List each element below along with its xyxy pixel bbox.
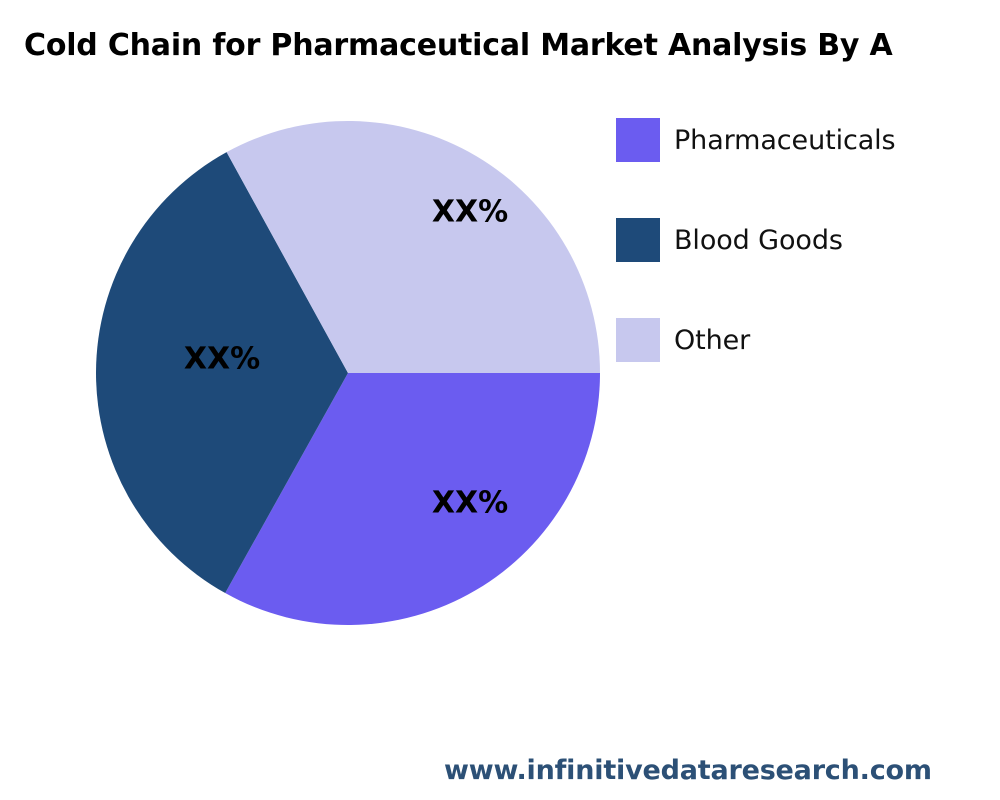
pie-slice-label-pharmaceuticals: XX% [432,486,508,521]
legend-swatch-pharmaceuticals [616,118,660,162]
legend-swatch-other [616,318,660,362]
legend-item-pharmaceuticals[interactable]: Pharmaceuticals [616,117,986,163]
pie-slice-label-blood-goods: XX% [184,342,260,377]
legend-item-other[interactable]: Other [616,317,986,363]
legend: Pharmaceuticals Blood Goods Other [616,117,986,417]
legend-swatch-blood-goods [616,218,660,262]
legend-label-pharmaceuticals: Pharmaceuticals [674,125,896,156]
pie-slice-label-other: XX% [432,195,508,230]
legend-label-other: Other [674,325,750,356]
pie-slices-group [96,121,600,625]
legend-label-blood-goods: Blood Goods [674,225,843,256]
source-website-url[interactable]: www.infinitivedataresearch.com [444,755,932,786]
legend-item-blood-goods[interactable]: Blood Goods [616,217,986,263]
